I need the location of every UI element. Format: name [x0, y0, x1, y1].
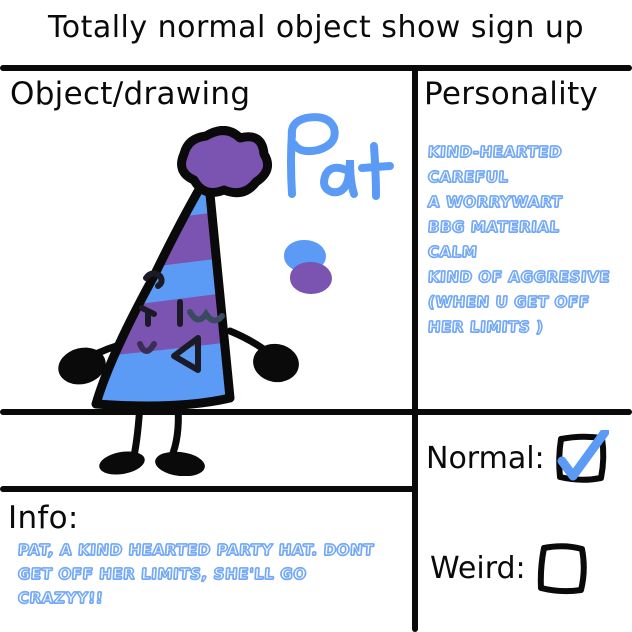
personality-list: KIND-HEARTED CAREFUL A WORRYWART BBG MAT…: [428, 140, 628, 340]
classification-row-normal[interactable]: Normal:: [426, 430, 609, 486]
section-header-personality: Personality: [424, 76, 598, 112]
checkbox-empty-icon[interactable]: [534, 540, 590, 596]
checkbox-square: [540, 546, 583, 591]
info-line: PAT, A KIND HEARTED PARTY HAT. DONT: [17, 538, 411, 562]
right-leg: [171, 406, 178, 458]
page-title: Totally normal object show sign up: [0, 10, 632, 45]
hat-stripes: [58, 126, 308, 476]
personality-item: HER LIMITS ): [427, 315, 629, 340]
letter-p: [291, 117, 335, 194]
section-header-info: Info:: [8, 500, 79, 536]
weird-checkbox[interactable]: [534, 540, 590, 596]
info-line: GET OFF HER LIMITS, SHE'LL GO: [17, 562, 411, 586]
info-line: CRAZYY!!: [17, 586, 411, 610]
personality-item: BBG MATERIAL: [427, 215, 629, 240]
divider-right-classification-top: [412, 409, 632, 415]
personality-item: KIND-HEARTED: [427, 140, 629, 165]
left-foot: [97, 448, 146, 476]
divider-left-info-top: [0, 486, 418, 492]
character-name-scribble: [276, 112, 406, 212]
character-svg: [58, 126, 308, 476]
checkbox-checked-icon[interactable]: [553, 430, 609, 486]
info-text-block: PAT, A KIND HEARTED PARTY HAT. DONT GET …: [18, 538, 410, 610]
signup-sheet: Totally normal object show sign up Objec…: [0, 0, 632, 632]
letter-t: [362, 146, 390, 196]
pom-pom: [182, 130, 268, 192]
personality-item: CAREFUL: [427, 165, 629, 190]
personality-item: KIND OF AGGRESIVE: [427, 265, 629, 290]
color-swatch-purple: [290, 262, 332, 294]
section-header-object-drawing: Object/drawing: [10, 76, 250, 112]
letter-a: [324, 160, 354, 194]
personality-item: A WORRYWART: [427, 190, 629, 215]
right-foot: [154, 449, 207, 476]
character-drawing: [58, 126, 308, 476]
personality-item: (WHEN U GET OFF: [427, 290, 629, 315]
left-leg: [134, 404, 140, 456]
classification-row-weird[interactable]: Weird:: [430, 540, 590, 596]
personality-item: CALM: [427, 240, 629, 265]
divider-vertical-main: [412, 65, 418, 632]
name-scribble-svg: [276, 112, 406, 212]
normal-label: Normal:: [426, 441, 545, 476]
divider-under-title: [0, 65, 632, 71]
normal-checkbox[interactable]: [553, 430, 609, 486]
weird-label: Weird:: [430, 551, 526, 586]
